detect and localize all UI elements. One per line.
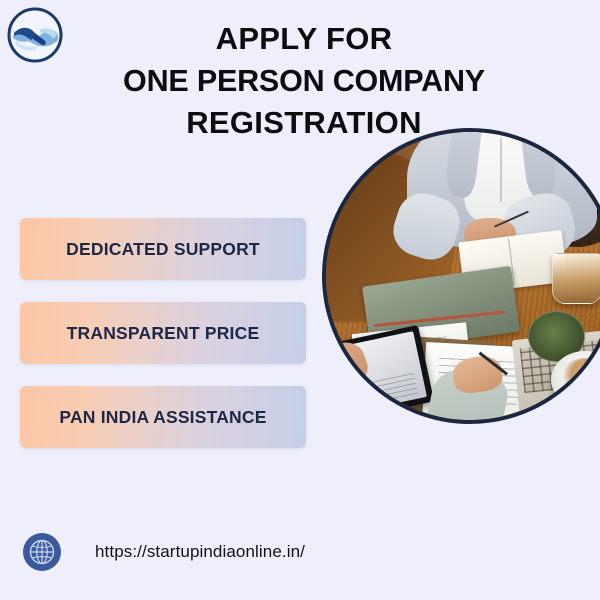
- page-title: APPLY FOR ONE PERSON COMPANY REGISTRATIO…: [78, 18, 530, 144]
- feature-chip-transparent-price[interactable]: TRANSPARENT PRICE: [20, 302, 306, 364]
- handshake-logo: [6, 6, 64, 64]
- feature-chip-pan-india-assistance[interactable]: PAN INDIA ASSISTANCE: [20, 386, 306, 448]
- feature-chip-dedicated-support[interactable]: DEDICATED SUPPORT: [20, 218, 306, 280]
- handshake-icon: [6, 6, 64, 64]
- headline-line-2: ONE PERSON COMPANY: [78, 60, 530, 102]
- feature-chip-label: PAN INDIA ASSISTANCE: [59, 407, 266, 428]
- hero-photo: [322, 128, 600, 424]
- globe-icon: [22, 532, 62, 572]
- website-url[interactable]: https://startupindiaonline.in/: [95, 542, 305, 562]
- feature-chip-label: TRANSPARENT PRICE: [67, 323, 260, 344]
- poster-canvas: APPLY FOR ONE PERSON COMPANY REGISTRATIO…: [0, 0, 600, 600]
- feature-list: DEDICATED SUPPORT TRANSPARENT PRICE PAN …: [20, 218, 306, 470]
- headline-line-1: APPLY FOR: [78, 18, 530, 60]
- glass-jar-drink: [552, 253, 600, 304]
- hero-photo-scene: [326, 132, 600, 420]
- footer: https://startupindiaonline.in/: [22, 532, 305, 572]
- feature-chip-label: DEDICATED SUPPORT: [66, 239, 260, 260]
- coffee-cup: [562, 358, 600, 396]
